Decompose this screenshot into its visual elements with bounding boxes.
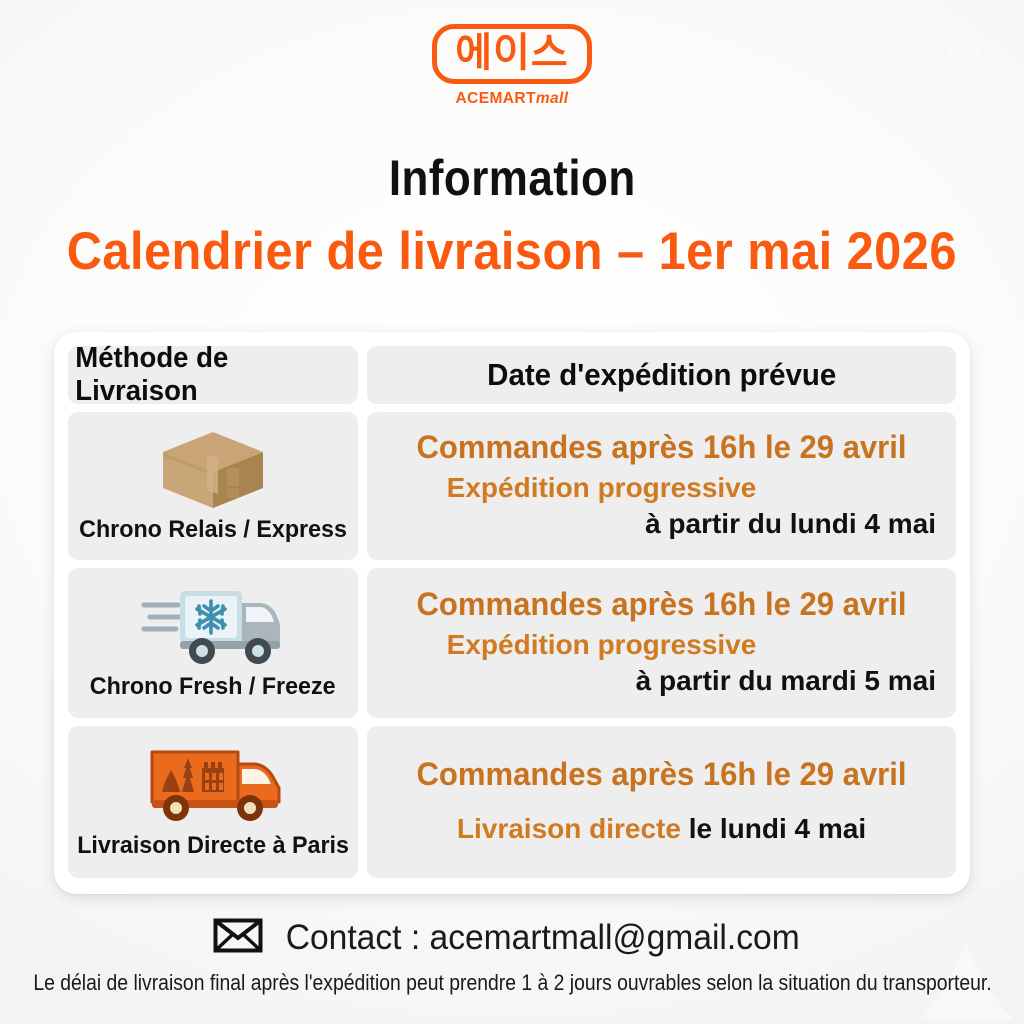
page-subtitle: Calendrier de livraison – 1er mai 2026 bbox=[67, 221, 957, 282]
envelope-icon bbox=[213, 918, 263, 958]
column-header-date: Date d'expédition prévue bbox=[367, 346, 956, 404]
shipping-mode: Expédition progressive bbox=[387, 629, 936, 661]
table-row: Livraison Directe à Paris Commandes aprè… bbox=[68, 726, 956, 878]
method-cell-chrono-relais: Chrono Relais / Express bbox=[68, 412, 358, 560]
table-header-row: Méthode de Livraison Date d'expédition p… bbox=[68, 346, 956, 404]
contact-email-text[interactable]: Contact : acemartmall@gmail.com bbox=[286, 918, 800, 958]
method-label: Livraison Directe à Paris bbox=[77, 832, 349, 860]
footer-note: Le délai de livraison final après l'expé… bbox=[33, 970, 991, 996]
method-label: Chrono Fresh / Freeze bbox=[90, 673, 336, 701]
logo-wordmark-italic: mall bbox=[536, 90, 569, 107]
cardboard-box-icon bbox=[155, 426, 271, 512]
column-header-date-label: Date d'expédition prévue bbox=[487, 357, 836, 393]
delivery-schedule-poster: 에이스 ACEMARTmall Information Calendrier d… bbox=[0, 0, 1024, 1024]
method-label: Chrono Relais / Express bbox=[79, 516, 347, 544]
shipping-info: Livraison directe le lundi 4 mai bbox=[387, 813, 936, 845]
date-cell-chrono-relais: Commandes après 16h le 29 avril Expéditi… bbox=[367, 412, 956, 560]
shipping-mode: Livraison directe bbox=[457, 813, 681, 844]
shipping-date: le lundi 4 mai bbox=[689, 813, 866, 844]
brand-logo: 에이스 ACEMARTmall bbox=[432, 24, 591, 107]
schedule-card: Méthode de Livraison Date d'expédition p… bbox=[54, 332, 970, 894]
order-deadline: Commandes après 16h le 29 avril bbox=[395, 586, 928, 623]
contact-line: Contact : acemartmall@gmail.com bbox=[213, 918, 810, 958]
corner-watermark-icon bbox=[904, 0, 1024, 90]
page-title: Information bbox=[389, 149, 636, 207]
table-row: Chrono Relais / Express Commandes après … bbox=[68, 412, 956, 560]
logo-wordmark-main: ACEMART bbox=[456, 90, 536, 107]
order-deadline: Commandes après 16h le 29 avril bbox=[395, 429, 928, 466]
column-header-method: Méthode de Livraison bbox=[68, 346, 358, 404]
method-cell-chrono-fresh: Chrono Fresh / Freeze bbox=[68, 568, 358, 718]
refrigerated-truck-icon bbox=[138, 583, 288, 669]
column-header-method-label: Méthode de Livraison bbox=[75, 342, 351, 408]
date-cell-paris-direct: Commandes après 16h le 29 avril Livraiso… bbox=[367, 726, 956, 878]
shipping-date: à partir du lundi 4 mai bbox=[387, 508, 936, 540]
logo-badge: 에이스 bbox=[432, 24, 591, 84]
shipping-mode: Expédition progressive bbox=[387, 472, 936, 504]
method-cell-paris-direct: Livraison Directe à Paris bbox=[68, 726, 358, 878]
order-deadline: Commandes après 16h le 29 avril bbox=[395, 756, 928, 793]
paris-delivery-van-icon bbox=[138, 742, 288, 828]
logo-wordmark: ACEMARTmall bbox=[456, 91, 569, 107]
date-cell-chrono-fresh: Commandes après 16h le 29 avril Expéditi… bbox=[367, 568, 956, 718]
shipping-date: à partir du mardi 5 mai bbox=[387, 665, 936, 697]
table-row: Chrono Fresh / Freeze Commandes après 16… bbox=[68, 568, 956, 718]
logo-korean-text: 에이스 bbox=[455, 33, 568, 73]
